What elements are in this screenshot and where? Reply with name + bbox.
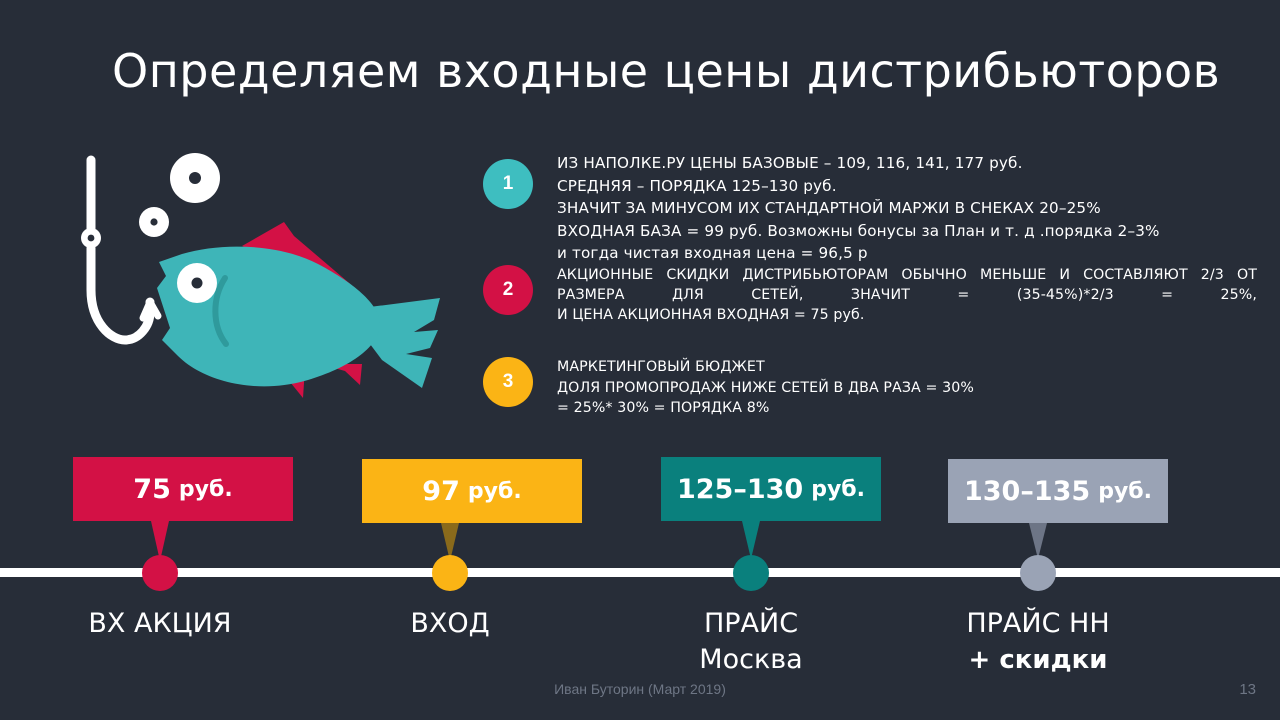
price-box-price-nn: 130–135 руб.: [948, 459, 1168, 523]
bullet-item-1: 1 ИЗ НАПОЛКЕ.РУ ЦЕНЫ БАЗОВЫЕ – 109, 116,…: [483, 152, 1273, 265]
bullet-badge-3: 3: [483, 357, 533, 407]
timeline-label-price-moscow: ПРАЙС Москва: [621, 606, 881, 678]
bullet-2-line-2: РАЗМЕРА ДЛЯ СЕТЕЙ, ЗНАЧИТ = (35-45%)*2/3…: [557, 285, 1257, 305]
timeline-dot-vhod: [432, 555, 468, 591]
timeline-label-1-line1: ВХ АКЦИЯ: [30, 606, 290, 642]
page-title: Определяем входные цены дистрибьюторов: [112, 44, 1172, 98]
bullet-1-line-4: ВХОДНАЯ БАЗА = 99 руб. Возможны бонусы з…: [557, 220, 1273, 243]
bullet-3-line-2: ДОЛЯ ПРОМОПРОДАЖ НИЖЕ СЕТЕЙ В ДВА РАЗА =…: [557, 378, 1273, 399]
price-unit-3: руб.: [811, 477, 865, 502]
timeline-label-vhod: ВХОД: [320, 606, 580, 642]
timeline-dot-price-nn: [1020, 555, 1056, 591]
price-box-vhod: 97 руб.: [362, 459, 582, 523]
timeline-label-price-nn: ПРАЙС НН + скидки: [908, 606, 1168, 678]
price-unit-1: руб.: [179, 477, 233, 502]
bullet-item-2: 2 АКЦИОННЫЕ СКИДКИ ДИСТРИБЬЮТОРАМ ОБЫЧНО…: [483, 265, 1273, 325]
price-unit-4: руб.: [1098, 479, 1152, 504]
slide-root: Определяем входные цены дистрибьюторов: [0, 0, 1280, 720]
bullet-3-line-3: = 25%* 30% = ПОРЯДКА 8%: [557, 398, 1273, 419]
price-amount-2: 97: [422, 476, 460, 507]
price-unit-2: руб.: [468, 479, 522, 504]
bullet-1-line-5: и тогда чистая входная цена = 96,5 р: [557, 242, 1273, 265]
timeline-label-4-line2: + скидки: [908, 642, 1168, 678]
bullet-item-3: 3 МАРКЕТИНГОВЫЙ БЮДЖЕТ ДОЛЯ ПРОМОПРОДАЖ …: [483, 357, 1273, 419]
bullet-badge-2: 2: [483, 265, 533, 315]
timeline-label-2-line1: ВХОД: [320, 606, 580, 642]
price-box-tail-4: [1029, 523, 1047, 559]
timeline-label-3-line1: ПРАЙС: [621, 606, 881, 642]
bullet-1-line-1: ИЗ НАПОЛКЕ.РУ ЦЕНЫ БАЗОВЫЕ – 109, 116, 1…: [557, 152, 1273, 175]
price-amount-3: 125–130: [677, 474, 803, 505]
price-box-price-moscow: 125–130 руб.: [661, 457, 881, 521]
fishhook-icon: [81, 160, 158, 340]
bullet-2-line-3: И ЦЕНА АКЦИОННАЯ ВХОДНАЯ = 75 руб.: [557, 305, 1257, 325]
bubble-icon-small: [139, 207, 169, 237]
bubble-icon-large: [170, 153, 220, 203]
price-box-vh-akciya: 75 руб.: [73, 457, 293, 521]
price-amount-1: 75: [133, 474, 171, 505]
bullet-1-line-2: СРЕДНЯЯ – ПОРЯДКА 125–130 руб.: [557, 175, 1273, 198]
timeline-label-vh-akciya: ВХ АКЦИЯ: [30, 606, 290, 642]
timeline-dot-vh-akciya: [142, 555, 178, 591]
bullet-2-line-1: АКЦИОННЫЕ СКИДКИ ДИСТРИБЬЮТОРАМ ОБЫЧНО М…: [557, 265, 1257, 285]
timeline-label-4-line1: ПРАЙС НН: [908, 606, 1168, 642]
bullet-3-line-1: МАРКЕТИНГОВЫЙ БЮДЖЕТ: [557, 357, 1273, 378]
timeline-label-3-line2: Москва: [621, 642, 881, 678]
timeline-dot-price-moscow: [733, 555, 769, 591]
bullet-badge-1: 1: [483, 159, 533, 209]
price-amount-4: 130–135: [964, 476, 1090, 507]
bullet-1-line-3: ЗНАЧИТ ЗА МИНУСОМ ИХ СТАНДАРТНОЙ МАРЖИ В…: [557, 197, 1273, 220]
price-box-tail-3: [742, 521, 760, 559]
fish-and-hook-illustration: [62, 140, 462, 420]
timeline-bar: [0, 568, 1280, 577]
fish-pupil: [192, 278, 203, 289]
footer-page-number: 13: [1239, 681, 1256, 698]
bullet-text-3: МАРКЕТИНГОВЫЙ БЮДЖЕТ ДОЛЯ ПРОМОПРОДАЖ НИ…: [557, 357, 1273, 419]
footer-credit: Иван Буторин (Март 2019): [0, 681, 1280, 697]
bullet-text-1: ИЗ НАПОЛКЕ.РУ ЦЕНЫ БАЗОВЫЕ – 109, 116, 1…: [557, 152, 1273, 265]
bullet-text-2: АКЦИОННЫЕ СКИДКИ ДИСТРИБЬЮТОРАМ ОБЫЧНО М…: [557, 265, 1257, 325]
